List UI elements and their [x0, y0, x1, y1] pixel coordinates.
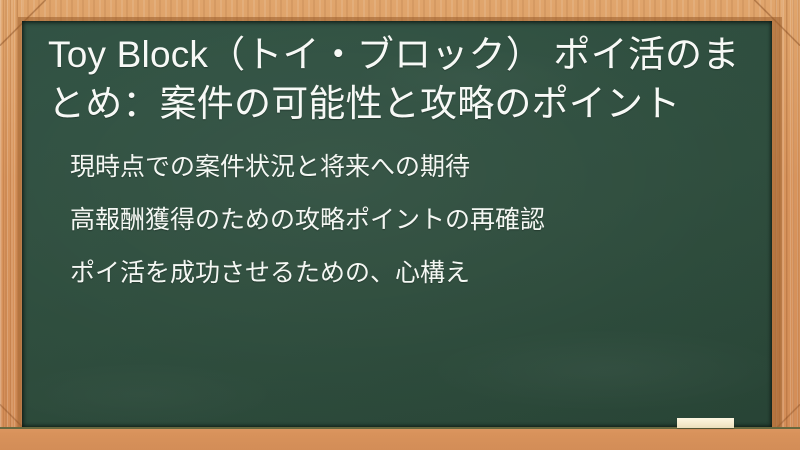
list-item: 現時点での案件状況と将来への期待	[70, 152, 746, 183]
frame-ledge-bottom	[0, 427, 800, 450]
chalkboard-content: Toy Block（トイ・ブロック） ポイ活のまとめ：案件の可能性と攻略のポイン…	[22, 21, 772, 289]
list-item: ポイ活を成功させるための、心構え	[70, 258, 746, 289]
page-title: Toy Block（トイ・ブロック） ポイ活のまとめ：案件の可能性と攻略のポイン…	[48, 30, 746, 128]
topic-list: 現時点での案件状況と将来への期待 高報酬獲得のための攻略ポイントの再確認 ポイ活…	[48, 152, 746, 289]
chalk-stick-icon	[677, 418, 734, 428]
wooden-frame: Toy Block（トイ・ブロック） ポイ活のまとめ：案件の可能性と攻略のポイン…	[0, 0, 800, 450]
list-item: 高報酬獲得のための攻略ポイントの再確認	[70, 205, 746, 236]
chalkboard: Toy Block（トイ・ブロック） ポイ活のまとめ：案件の可能性と攻略のポイン…	[22, 21, 772, 427]
